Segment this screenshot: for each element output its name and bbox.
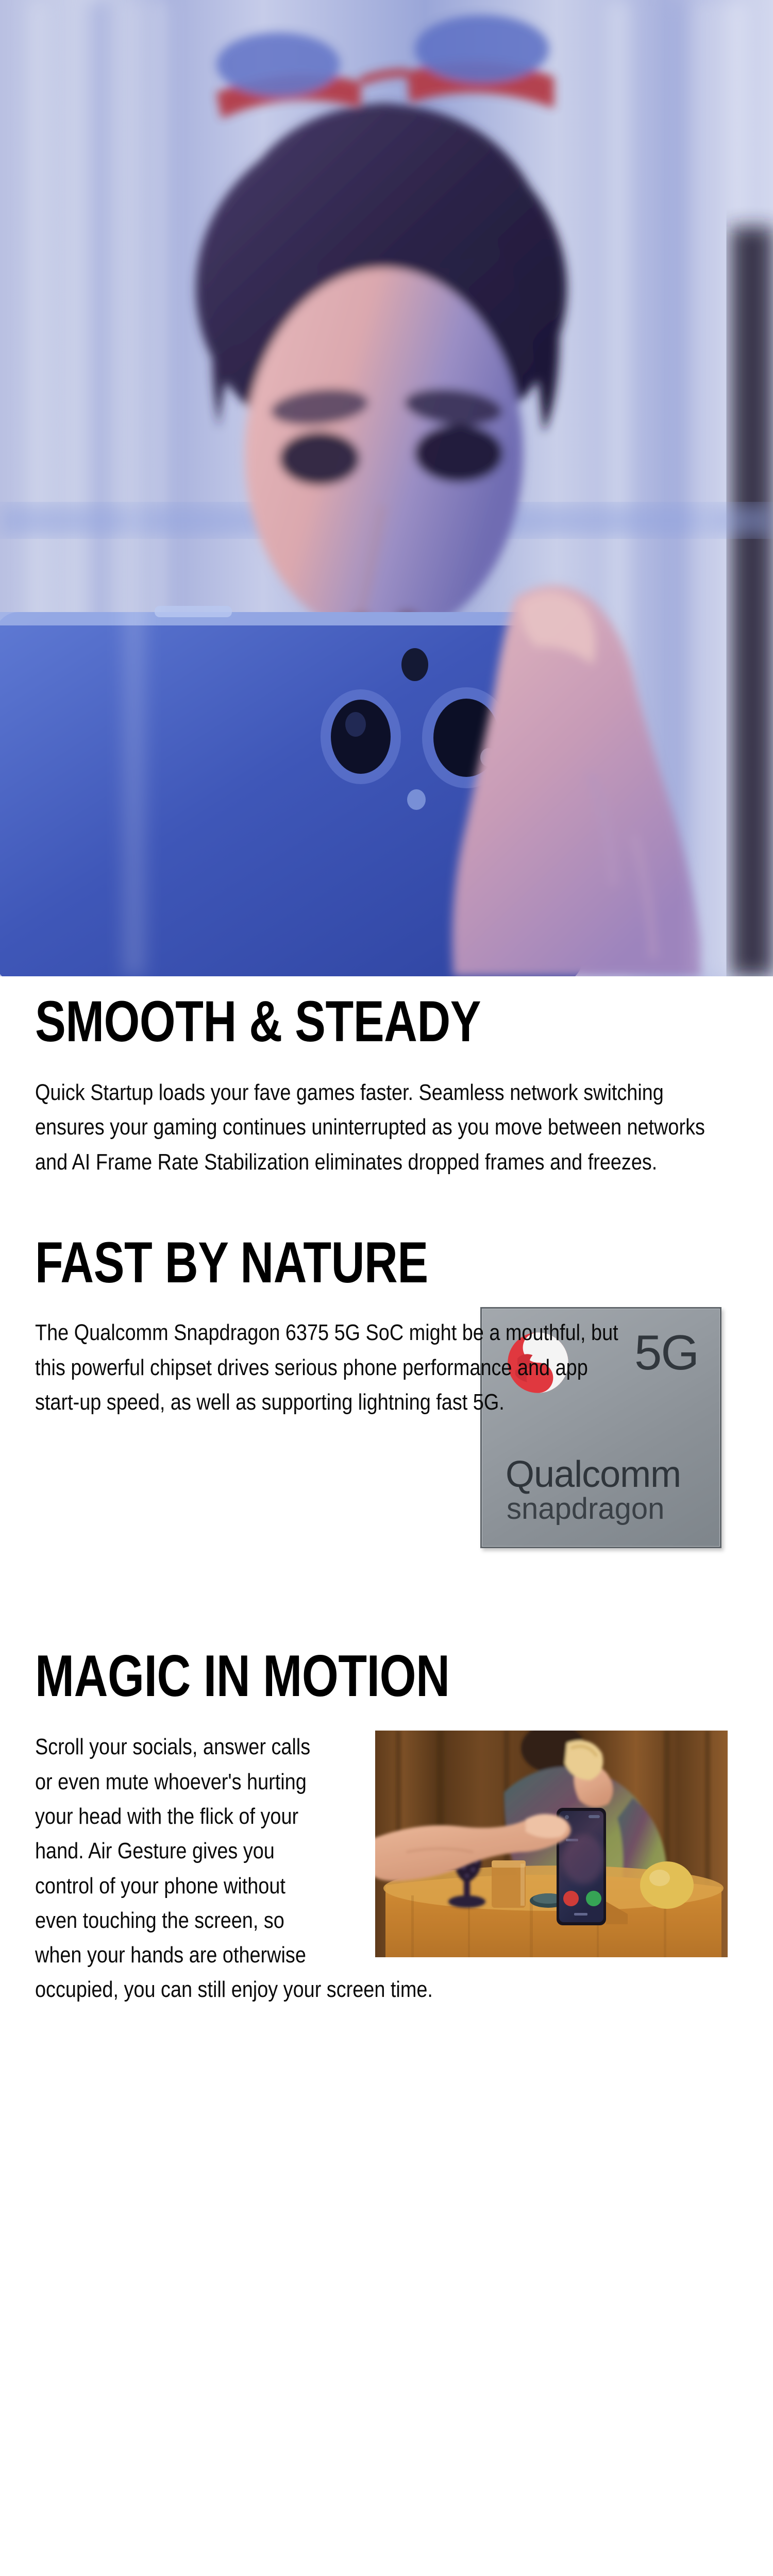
article-content: SMOOTH & STEADY Quick Startup loads your…	[0, 976, 773, 2007]
section-magic-in-motion: MAGIC IN MOTION	[0, 1573, 773, 2007]
heading-magic-in-motion: MAGIC IN MOTION	[35, 1649, 597, 1704]
paragraph-smooth-and-steady: Quick Startup loads your fave games fast…	[35, 1075, 736, 1179]
hero-illustration	[0, 0, 773, 976]
hero-image	[0, 0, 773, 976]
section-smooth-and-steady: SMOOTH & STEADY Quick Startup loads your…	[0, 976, 773, 1179]
paragraph-magic-in-motion: Scroll your socials, answer calls or eve…	[35, 1730, 736, 2007]
paragraph-fast-by-nature: The Qualcomm Snapdragon 6375 5G SoC migh…	[35, 1315, 628, 1419]
heading-smooth-and-steady: SMOOTH & STEADY	[35, 995, 597, 1048]
section-fast-by-nature: FAST BY NATURE 5G Qualcomm snapdragon Th…	[0, 1179, 773, 1573]
heading-fast-by-nature: FAST BY NATURE	[35, 1236, 597, 1290]
chip-5g-label: 5G	[634, 1328, 698, 1378]
chip-qualcomm-label: Qualcomm	[506, 1456, 681, 1493]
chip-snapdragon-label: snapdragon	[507, 1494, 664, 1524]
